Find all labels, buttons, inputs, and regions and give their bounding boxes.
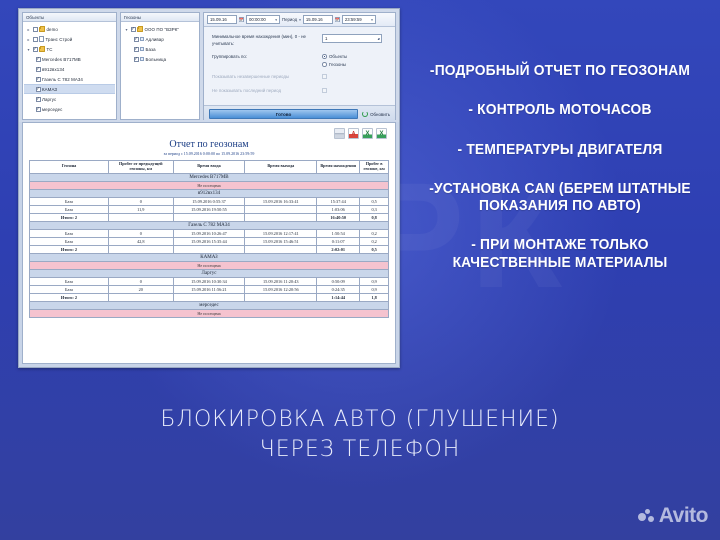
report-table-head: ГеозонаПробег от предыдущей геозоны, кмВ… (30, 161, 389, 174)
geozones-tree[interactable]: ▾✓ООО ПО "ВЗРК"✓Адливар✓База✓Больница (121, 22, 199, 119)
object-tree-item[interactable]: ✓Газель С 782 МА34 (24, 74, 115, 84)
table-cell: 0,3 (360, 205, 389, 213)
hide-last-checkbox (322, 88, 327, 93)
table-cell: 15.09.2016 10:30:34 (173, 277, 245, 285)
print-icon[interactable] (334, 128, 345, 139)
folder-icon (137, 27, 143, 32)
table-cell (245, 293, 317, 301)
checkbox[interactable]: ✓ (134, 37, 139, 42)
table-cell: 2:02:01 (317, 245, 360, 253)
table-cell (245, 245, 317, 253)
report-group-row: Mercedes В717МВ (30, 173, 389, 181)
min-stay-stepper[interactable]: 1 (322, 34, 382, 43)
chevron-down-icon: ▾ (275, 18, 277, 22)
report-total-row: Итого: 21:14:441,8 (30, 293, 389, 301)
object-tree-item-label: в912вх134 (42, 67, 64, 72)
object-tree-item-label: Транс Строй (46, 37, 73, 42)
table-cell: 0:24:35 (317, 285, 360, 293)
object-tree-item[interactable]: ▸Транс Строй (24, 34, 115, 44)
time-from-field[interactable]: 00:00:00 ▾ (246, 15, 280, 24)
table-row: База2015.09.2016 11:56:2115.09.2016 12:2… (30, 285, 389, 293)
radio-objects-label: Объекты (329, 54, 347, 59)
group-by-radios: Объекты Геозоны (322, 54, 347, 67)
table-cell: 15.09.2016 15:46:51 (245, 237, 317, 245)
folder-icon (39, 47, 45, 52)
report-settings-panel: 15.09.16 📅 00:00:00 ▾ Период ▾ 15.09.16 … (203, 12, 396, 120)
radio-geozones[interactable]: Геозоны (322, 62, 347, 67)
geozone-tree-item[interactable]: ✓Адливар (122, 34, 198, 44)
table-cell: 15.09.2016 16:33:41 (245, 197, 317, 205)
report-total-label: Итого: 2 (30, 213, 109, 221)
report-group-name: в912вх134 (30, 189, 389, 197)
geozones-panel: Геозоны ▾✓ООО ПО "ВЗРК"✓Адливар✓База✓Бол… (120, 12, 200, 120)
report-no-visit-label: Не посещена (30, 309, 389, 317)
report-total-row: Итого: 22:02:010,5 (30, 245, 389, 253)
table-cell (108, 213, 173, 221)
checkbox[interactable]: ✓ (131, 27, 136, 32)
table-cell: 42,8 (108, 237, 173, 245)
report-column-header: Пробег в геозоне, км (360, 161, 389, 174)
report-no-visit-row: Не посещена (30, 181, 389, 189)
report-column-header: Пробег от предыдущей геозоны, км (108, 161, 173, 174)
report-no-visit-label: Не посещена (30, 181, 389, 189)
table-cell: 15.09.2016 10:26:47 (173, 229, 245, 237)
refresh-button[interactable]: Обновить (362, 111, 390, 117)
table-cell: 15.09.2016 0:55:37 (173, 197, 245, 205)
checkbox[interactable] (33, 37, 38, 42)
table-cell: 15.09.2016 11:20:43 (245, 277, 317, 285)
object-tree-item-label: Mercedes В717МВ (42, 57, 81, 62)
checkbox[interactable]: ✓ (134, 57, 139, 62)
promo-caption-line2: ЧЕРЕЗ ТЕЛЕФОН (0, 435, 720, 465)
geozone-tree-item-label: ООО ПО "ВЗРК" (145, 27, 180, 32)
datetime-toolbar: 15.09.16 📅 00:00:00 ▾ Период ▾ 15.09.16 … (204, 13, 395, 27)
document-icon (39, 36, 44, 42)
period-label: Период (282, 17, 297, 22)
report-group-row: в912вх134 (30, 189, 389, 197)
report-group-name: Газель С 782 МА34 (30, 221, 389, 229)
object-tree-item-label: ТС (47, 47, 53, 52)
table-cell: 1:03:06 (317, 205, 360, 213)
settings-body: Минимальное время нахождения (мин), 0 - … (204, 27, 395, 105)
report-no-visit-row: Не посещена (30, 261, 389, 269)
object-tree-item[interactable]: ✓Ларгус (24, 94, 115, 104)
promo-caption-line1: БЛОКИРОВКА АВТО (ГЛУШЕНИЕ) (160, 407, 559, 432)
table-cell: 15.09.2016 15:35:44 (173, 237, 245, 245)
table-cell (108, 293, 173, 301)
report-group-name: КАМАЗ (30, 253, 389, 261)
object-tree-item-label: demo (47, 27, 58, 32)
time-to-field[interactable]: 23:59:59 ▾ (342, 15, 376, 24)
table-cell: 1,8 (360, 293, 389, 301)
table-row: База42,815.09.2016 15:35:4415.09.2016 15… (30, 237, 389, 245)
calendar-icon-2[interactable]: 📅 (335, 17, 340, 22)
report-column-header: Время входа (173, 161, 245, 174)
table-cell: База (30, 285, 109, 293)
checkbox[interactable] (33, 27, 38, 32)
table-cell: 11,9 (108, 205, 173, 213)
promo-bullet: - ТЕМПЕРАТУРЫ ДВИГАТЕЛЯ (420, 141, 700, 158)
settings-footer: Готово Обновить (204, 105, 395, 122)
show-incomplete-label: Показывать незавершенные периоды (212, 74, 322, 81)
pdf-icon[interactable]: A (348, 128, 359, 139)
table-row: База015.09.2016 10:30:3415.09.2016 11:20… (30, 277, 389, 285)
group-by-label: Группировать по: (212, 54, 322, 61)
geozone-tree-item[interactable]: ✓Больница (122, 54, 198, 64)
report-group-row: КАМАЗ (30, 253, 389, 261)
object-tree-item[interactable]: ✓в912вх134 (24, 64, 115, 74)
report-column-header: Время выхода (245, 161, 317, 174)
promo-bullet: -УСТАНОВКА CAN (БЕРЕМ ШТАТНЫЕ ПОКАЗАНИЯ … (420, 180, 700, 215)
radio-geozones-indicator (322, 62, 327, 67)
report-column-header: Время нахождения (317, 161, 360, 174)
table-cell: 15.09.2016 11:56:21 (173, 285, 245, 293)
calendar-icon[interactable]: 📅 (239, 17, 244, 22)
refresh-icon (362, 111, 368, 117)
radio-objects[interactable]: Объекты (322, 54, 347, 59)
ready-button[interactable]: Готово (209, 109, 358, 119)
object-tree-item[interactable]: ▾✓ТС (24, 44, 115, 54)
checkbox[interactable]: ✓ (36, 107, 41, 112)
min-stay-label: Минимальное время нахождения (мин), 0 - … (212, 34, 322, 47)
table-cell: 20 (108, 285, 173, 293)
report-total-row: Итого: 216:40:500,8 (30, 213, 389, 221)
promo-bullet-list: -ПОДРОБНЫЙ ОТЧЕТ ПО ГЕОЗОНАМ- КОНТРОЛЬ М… (408, 62, 712, 271)
table-cell: 15.09.2016 19:50:55 (173, 205, 245, 213)
table-cell: База (30, 229, 109, 237)
promo-bullet: - ПРИ МОНТАЖЕ ТОЛЬКО КАЧЕСТВЕННЫЕ МАТЕРИ… (420, 236, 700, 271)
geozone-icon (140, 47, 144, 51)
tree-expander-icon[interactable]: ▸ (26, 37, 31, 42)
table-cell (245, 205, 317, 213)
chevron-down-icon-2: ▾ (371, 18, 373, 22)
table-cell (173, 245, 245, 253)
geozone-tree-item[interactable]: ▾✓ООО ПО "ВЗРК" (122, 24, 198, 34)
report-table-body: Mercedes В717МВНе посещенав912вх134База0… (30, 173, 389, 317)
table-cell: База (30, 197, 109, 205)
checkbox[interactable]: ✓ (36, 67, 41, 72)
application-screenshot: Объекты ▸demo▸Транс Строй▾✓ТС✓Mercedes В… (18, 8, 400, 368)
table-cell (173, 293, 245, 301)
geozone-tree-item-label: База (146, 47, 156, 52)
report-subtitle: за период с 15.09.2016 0:00:00 по 15.09.… (29, 151, 389, 156)
tree-expander-icon[interactable]: ▸ (26, 27, 31, 32)
avito-logo: Avito (638, 504, 708, 528)
table-cell: База (30, 277, 109, 285)
report-group-name: Mercedes В717МВ (30, 173, 389, 181)
avito-dots-icon (638, 509, 655, 524)
radio-objects-indicator (322, 54, 327, 59)
checkbox[interactable]: ✓ (36, 77, 41, 82)
table-cell: 0 (108, 197, 173, 205)
report-total-label: Итого: 2 (30, 245, 109, 253)
table-cell: 1:50:54 (317, 229, 360, 237)
objects-tree[interactable]: ▸demo▸Транс Строй▾✓ТС✓Mercedes В717МВ✓в9… (23, 22, 116, 119)
avito-logo-text: Avito (659, 504, 708, 528)
object-tree-item-label: Ларгус (42, 97, 56, 102)
object-tree-item[interactable]: ▸demo (24, 24, 115, 34)
geozone-tree-item-label: Адливар (146, 37, 164, 42)
table-cell: 0,9 (360, 277, 389, 285)
hide-last-label: Не показывать последний период (212, 88, 322, 95)
group-by-row: Группировать по: Объекты Геозоны (212, 54, 387, 67)
table-cell: 0,2 (360, 229, 389, 237)
report-no-visit-row: Не посещена (30, 309, 389, 317)
table-cell: 0,9 (360, 285, 389, 293)
table-row: База11,915.09.2016 19:50:551:03:060,3 (30, 205, 389, 213)
promo-bullet: - КОНТРОЛЬ МОТОЧАСОВ (420, 101, 700, 118)
report-title: Отчет по геозонам (29, 139, 389, 150)
refresh-button-label: Обновить (370, 112, 390, 117)
report-group-row: Ларгус (30, 269, 389, 277)
report-group-row: Газель С 782 МА34 (30, 221, 389, 229)
report-total-label: Итого: 2 (30, 293, 109, 301)
geozone-tree-item-label: Больница (146, 57, 167, 62)
time-to-value: 23:59:59 (345, 17, 362, 22)
min-stay-value: 1 (325, 36, 327, 41)
checkbox[interactable]: ✓ (36, 57, 41, 62)
date-from-field[interactable]: 15.09.16 (207, 15, 237, 24)
date-from-value: 15.09.16 (210, 17, 227, 22)
object-tree-item-label: мерседес (42, 107, 62, 112)
promo-caption: БЛОКИРОВКА АВТО (ГЛУШЕНИЕ) ЧЕРЕЗ ТЕЛЕФОН (0, 405, 720, 464)
table-cell: База (30, 237, 109, 245)
geozones-panel-header: Геозоны (121, 13, 199, 22)
object-tree-item[interactable]: ✓КАМАЗ (24, 84, 115, 94)
table-cell: 16:40:50 (317, 213, 360, 221)
report-table: ГеозонаПробег от предыдущей геозоны, кмВ… (29, 160, 389, 318)
checkbox[interactable]: ✓ (36, 87, 41, 92)
export-icons: A X X (334, 128, 387, 139)
table-cell: 0,5 (360, 197, 389, 205)
period-chevron-down-icon[interactable]: ▾ (299, 18, 301, 22)
folder-icon (39, 27, 45, 32)
table-cell: 0:50:09 (317, 277, 360, 285)
table-row: База015.09.2016 0:55:3715.09.2016 16:33:… (30, 197, 389, 205)
date-to-field[interactable]: 15.09.16 (303, 15, 333, 24)
report-group-name: мерседес (30, 301, 389, 309)
table-cell: 1:14:44 (317, 293, 360, 301)
table-cell: 0,5 (360, 245, 389, 253)
table-cell: 0,2 (360, 237, 389, 245)
table-cell: 0:11:07 (317, 237, 360, 245)
geozone-icon (140, 57, 144, 61)
radio-geozones-label: Геозоны (329, 62, 346, 67)
object-tree-item-label: КАМАЗ (42, 87, 57, 92)
show-incomplete-checkbox (322, 74, 327, 79)
hide-last-row: Не показывать последний период (212, 88, 387, 95)
min-stay-row: Минимальное время нахождения (мин), 0 - … (212, 34, 387, 47)
xlsx-icon[interactable]: X (376, 128, 387, 139)
promo-bullet: -ПОДРОБНЫЙ ОТЧЕТ ПО ГЕОЗОНАМ (420, 62, 700, 79)
table-cell: 15.09.2016 12:20:56 (245, 285, 317, 293)
app-top-area: Объекты ▸demo▸Транс Строй▾✓ТС✓Mercedes В… (19, 9, 399, 122)
geozone-icon (140, 37, 144, 41)
geozone-tree-item[interactable]: ✓База (122, 44, 198, 54)
checkbox[interactable]: ✓ (33, 47, 38, 52)
table-cell: 0,8 (360, 213, 389, 221)
report-group-row: мерседес (30, 301, 389, 309)
report-header-row: ГеозонаПробег от предыдущей геозоны, кмВ… (30, 161, 389, 174)
object-tree-item-label: Газель С 782 МА34 (42, 77, 83, 82)
object-tree-item[interactable]: ✓Mercedes В717МВ (24, 54, 115, 64)
report-no-visit-label: Не посещена (30, 261, 389, 269)
table-cell: 15.09.2016 12:17:41 (245, 229, 317, 237)
checkbox[interactable]: ✓ (134, 47, 139, 52)
table-cell (173, 213, 245, 221)
table-cell: 15:37:44 (317, 197, 360, 205)
table-cell (108, 245, 173, 253)
tree-expander-icon[interactable]: ▾ (124, 27, 129, 32)
report-group-name: Ларгус (30, 269, 389, 277)
table-cell: База (30, 205, 109, 213)
xls-icon[interactable]: X (362, 128, 373, 139)
table-cell (245, 213, 317, 221)
report-column-header: Геозона (30, 161, 109, 174)
table-cell: 0 (108, 277, 173, 285)
date-to-value: 15.09.16 (306, 17, 323, 22)
show-incomplete-row: Показывать незавершенные периоды (212, 74, 387, 81)
time-from-value: 00:00:00 (249, 17, 266, 22)
objects-panel-header: Объекты (23, 13, 116, 22)
table-cell: 0 (108, 229, 173, 237)
tree-expander-icon[interactable]: ▾ (26, 47, 31, 52)
object-tree-item[interactable]: ✓мерседес (24, 104, 115, 114)
objects-panel: Объекты ▸demo▸Транс Строй▾✓ТС✓Mercedes В… (22, 12, 117, 120)
table-row: База015.09.2016 10:26:4715.09.2016 12:17… (30, 229, 389, 237)
report-area: A X X Отчет по геозонам за период с 15.0… (22, 122, 396, 364)
checkbox[interactable]: ✓ (36, 97, 41, 102)
